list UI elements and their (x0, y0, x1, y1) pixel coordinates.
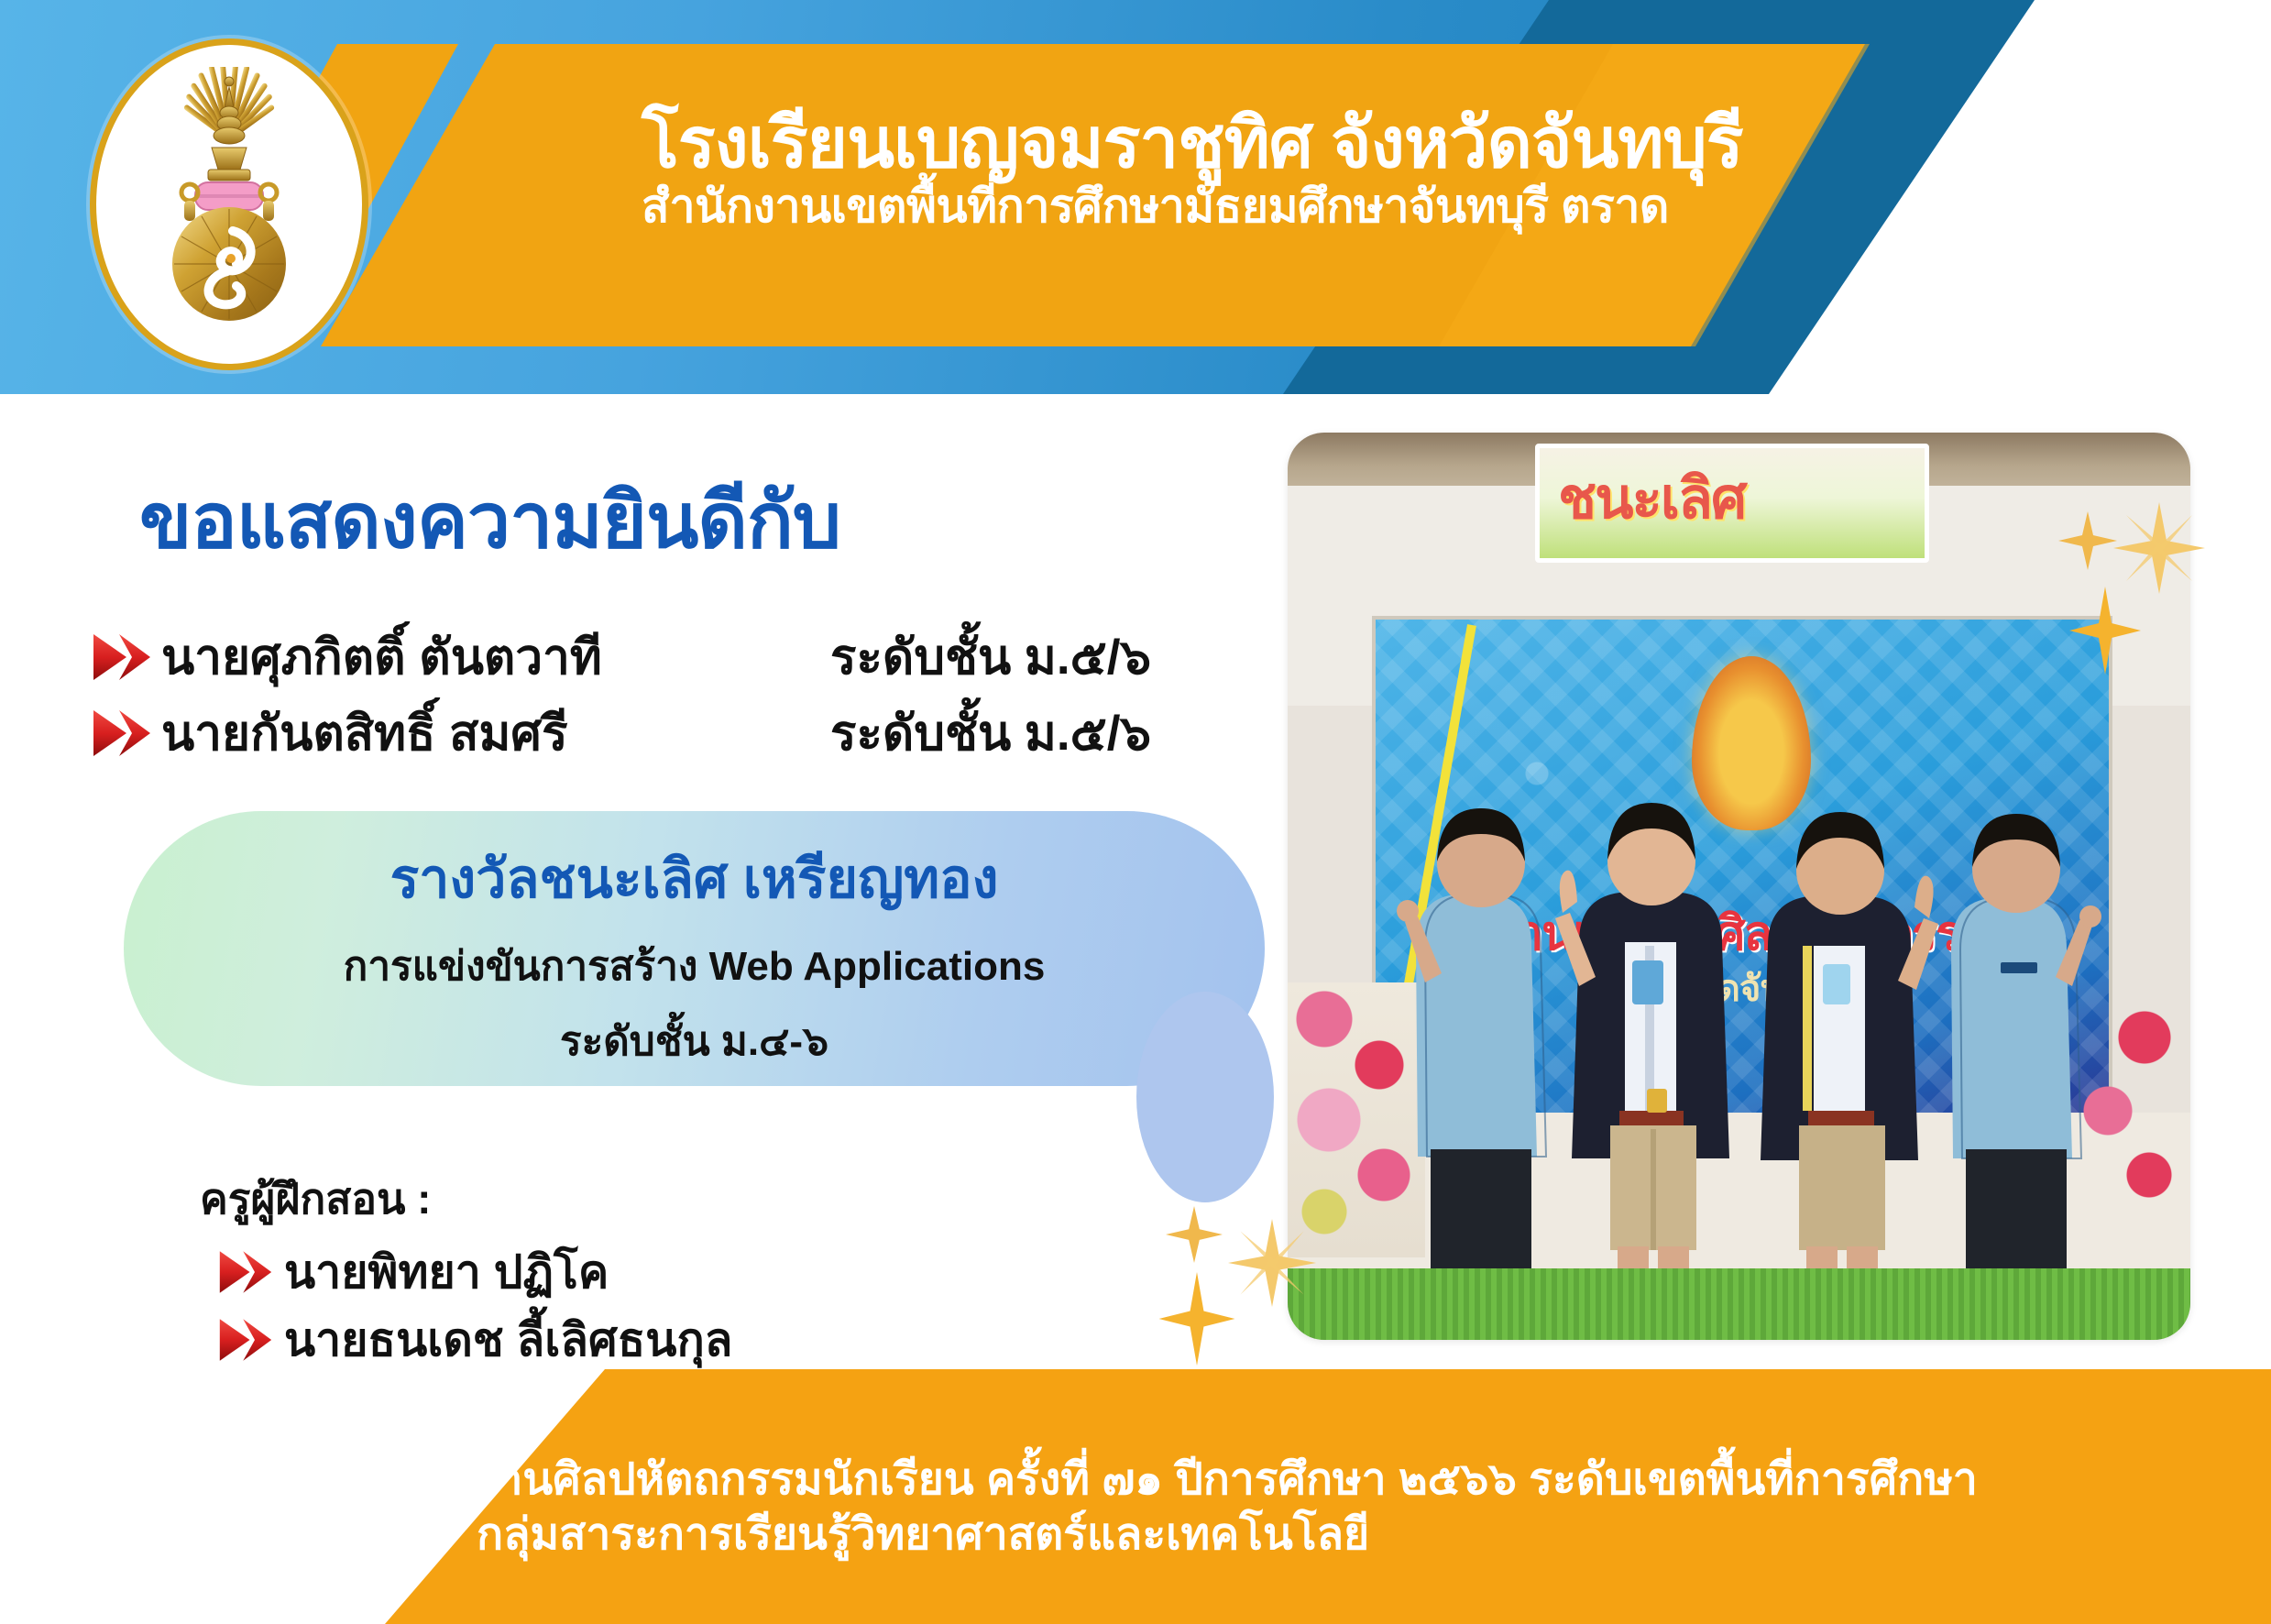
teacher-name: นายธนเดช ลี้เลิศธนกุล (284, 1304, 732, 1377)
red-double-chevron-icon (92, 631, 152, 684)
sparkle-star-icon (1158, 1272, 1235, 1366)
person-teacher-left (1397, 808, 1546, 1268)
congratulations-heading: ขอแสดงความยินดีกับ (139, 458, 840, 581)
royal-emblem-icon (124, 67, 335, 342)
photo-people-group (1288, 433, 2190, 1340)
award-badge-panel: รางวัลชนะเลิศ เหรียญทอง การแข่งขันการสร้… (124, 811, 1265, 1086)
award-title: รางวัลชนะเลิศ เหรียญทอง (390, 835, 999, 921)
teacher-name: นายพิทยา ปฏิโค (284, 1236, 609, 1309)
list-item: นายพิทยา ปฏิโค (218, 1238, 732, 1306)
student-name: นายกันตสิทธิ์ สมศรี (161, 695, 830, 772)
teacher-section: ครูผู้ฝึกสอน : นายพิทยา ปฏิโค นายธนเดช ล… (200, 1166, 732, 1374)
school-name: โรงเรียนเบญจมราชูทิศ จังหวัดจันทบุรี (642, 108, 1925, 180)
student-name: นายศุภกิตติ์ ตันตวาที (161, 619, 830, 696)
student-grade: ระดับชั้น ม.๕/๖ (830, 619, 1151, 696)
student-list: นายศุภกิตติ์ ตันตวาที ระดับชั้น ม.๕/๖ นา… (92, 619, 1283, 771)
sparkle-star-icon (2058, 511, 2117, 570)
poster-root: โรงเรียนเบญจมราชูทิศ จังหวัดจันทบุรี สำน… (0, 0, 2271, 1624)
header-text-block: โรงเรียนเบญจมราชูทิศ จังหวัดจันทบุรี สำน… (642, 108, 1925, 230)
award-group-photo: ชนะเลิศ งานแข่งขันศิลปหัตถกรรม จังหวัดจั… (1288, 433, 2190, 1340)
footer-subject-line: กลุ่มสาระการเรียนรู้วิทยาศาสตร์และเทคโนโ… (477, 1509, 2218, 1562)
school-office-name: สำนักงานเขตพื้นที่การศึกษามัธยมศึกษาจันท… (642, 183, 1925, 230)
list-item: นายกันตสิทธิ์ สมศรี ระดับชั้น ม.๕/๖ (92, 695, 1283, 771)
red-double-chevron-icon (218, 1247, 273, 1297)
header-banner: โรงเรียนเบญจมราชูทิศ จังหวัดจันทบุรี สำน… (0, 0, 2271, 394)
red-double-chevron-icon (92, 707, 152, 760)
photo-content: ชนะเลิศ งานแข่งขันศิลปหัตถกรรม จังหวัดจั… (1288, 433, 2190, 1340)
person-teacher-right (1951, 814, 2101, 1272)
student-grade: ระดับชั้น ม.๕/๖ (830, 695, 1151, 772)
decorative-blue-blob (1136, 992, 1274, 1202)
footer-text-block: งานศิลปหัตถกรรมนักเรียน ครั้งที่ ๗๑ ปีกา… (477, 1454, 2218, 1562)
sparkle-star-icon (1166, 1206, 1223, 1263)
footer-event-line: งานศิลปหัตถกรรมนักเรียน ครั้งที่ ๗๑ ปีกา… (477, 1454, 2218, 1507)
sparkle-star-icon (1228, 1219, 1316, 1307)
person-student-2 (1761, 812, 1938, 1331)
list-item: นายธนเดช ลี้เลิศธนกุล (218, 1306, 732, 1374)
teacher-section-label: ครูผู้ฝึกสอน : (200, 1166, 732, 1233)
school-emblem-logo (90, 38, 368, 370)
award-competition-name: การแข่งขันการสร้าง Web Applications (344, 934, 1046, 998)
photo-grass (1288, 1268, 2190, 1340)
red-double-chevron-icon (218, 1315, 273, 1365)
award-level: ระดับชั้น ม.๔-๖ (560, 1009, 828, 1073)
sparkle-star-icon (2113, 502, 2205, 594)
sparkle-star-icon (2069, 587, 2141, 675)
person-student-1 (1555, 803, 1729, 1331)
list-item: นายศุภกิตติ์ ตันตวาที ระดับชั้น ม.๕/๖ (92, 619, 1283, 695)
